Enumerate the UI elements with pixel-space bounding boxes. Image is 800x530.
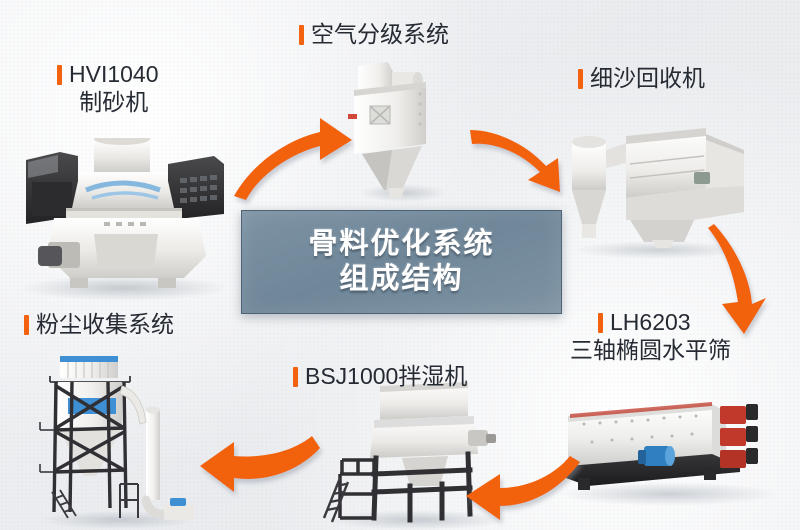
arrow-mixer-to-dust <box>190 424 325 498</box>
machine-image-sand-making-machine <box>8 138 240 303</box>
arrow-screen-to-mixer <box>458 448 588 530</box>
arrow-classifier-to-recycler <box>468 100 588 195</box>
label-line-name: 三轴椭圆水平筛 <box>570 336 731 364</box>
label-line-model: LH6203 <box>598 308 731 336</box>
label-line-name: 空气分级系统 <box>299 20 449 48</box>
label-line-name: 粉尘收集系统 <box>24 310 174 338</box>
label-line-name: 细沙回收机 <box>578 64 705 92</box>
accent-bar-icon <box>57 65 62 85</box>
label-wet-mixer: BSJ1000拌湿机 <box>293 362 467 390</box>
machine-image-air-classifier <box>348 62 458 202</box>
accent-bar-icon <box>299 25 304 45</box>
label-air-classifier: 空气分级系统 <box>299 20 449 48</box>
label-dust-collection-system: 粉尘收集系统 <box>24 310 174 338</box>
label-line-model: HVI1040 <box>57 60 159 88</box>
accent-bar-icon <box>598 313 603 333</box>
label-fine-sand-recycler: 细沙回收机 <box>578 64 705 92</box>
accent-bar-icon <box>293 367 298 387</box>
center-title-plate: 骨料优化系统 组成结构 <box>241 210 562 314</box>
diagram-canvas: HVI1040 制砂机 空气分级系统 细沙回收机 LH6203 三轴椭圆水平筛 … <box>0 0 800 530</box>
accent-bar-icon <box>578 69 583 89</box>
center-title-line-2: 组成结构 <box>339 262 463 297</box>
arrow-crusher-to-classifier <box>228 108 358 203</box>
label-sand-making-machine: HVI1040 制砂机 <box>57 60 159 116</box>
accent-bar-icon <box>24 315 29 335</box>
label-line-name: BSJ1000拌湿机 <box>293 362 467 390</box>
center-title-line-1: 骨料优化系统 <box>308 227 494 262</box>
label-horizontal-screen: LH6203 三轴椭圆水平筛 <box>598 308 731 364</box>
label-line-name: 制砂机 <box>57 88 159 116</box>
machine-image-dust-collection-system <box>34 352 204 530</box>
